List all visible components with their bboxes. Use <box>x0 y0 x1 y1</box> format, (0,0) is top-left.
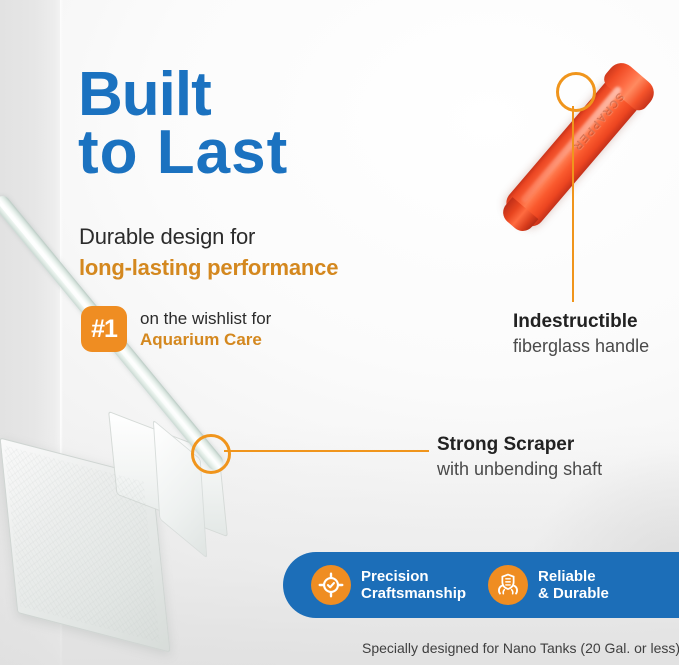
headline-line-2: to Last <box>78 124 288 182</box>
callout-handle: Indestructible fiberglass handle <box>513 310 649 358</box>
subheading-line-1: Durable design for <box>79 224 255 250</box>
callout-scraper: Strong Scraper with unbending shaft <box>437 433 602 481</box>
target-check-icon <box>311 565 351 605</box>
annotation-circle-icon <box>556 72 596 112</box>
feature-reliable: Reliable & Durable <box>488 565 609 605</box>
callout-scraper-subtitle: with unbending shaft <box>437 458 602 481</box>
callout-scraper-title: Strong Scraper <box>437 433 602 458</box>
feature-precision-label: Precision Craftsmanship <box>361 568 466 603</box>
subheading-line-2: long-lasting performance <box>79 255 338 281</box>
feature-reliable-line-2: & Durable <box>538 585 609 602</box>
feature-bar: Precision Craftsmanship Reliable & Durab… <box>283 552 679 618</box>
feature-precision: Precision Craftsmanship <box>311 565 466 605</box>
feature-reliable-label: Reliable & Durable <box>538 568 609 603</box>
badge-text: on the wishlist for Aquarium Care <box>140 308 271 351</box>
feature-precision-line-1: Precision <box>361 568 466 585</box>
hands-shield-icon <box>488 565 528 605</box>
wishlist-badge: #1 on the wishlist for Aquarium Care <box>81 306 271 352</box>
footnote: Specially designed for Nano Tanks (20 Ga… <box>362 640 679 656</box>
product-marketing-image: SCRAPPER Built to Last Durable design fo… <box>0 0 679 665</box>
feature-reliable-line-1: Reliable <box>538 568 609 585</box>
page-title: Built to Last <box>78 66 288 181</box>
rank-badge: #1 <box>81 306 127 352</box>
callout-handle-subtitle: fiberglass handle <box>513 335 649 358</box>
annotation-circle-icon <box>191 434 231 474</box>
annotation-leader-line <box>224 450 429 452</box>
callout-handle-title: Indestructible <box>513 310 649 335</box>
annotation-leader-line <box>572 106 574 302</box>
badge-text-line-1: on the wishlist for <box>140 308 271 329</box>
feature-precision-line-2: Craftsmanship <box>361 585 466 602</box>
badge-text-line-2: Aquarium Care <box>140 329 271 350</box>
